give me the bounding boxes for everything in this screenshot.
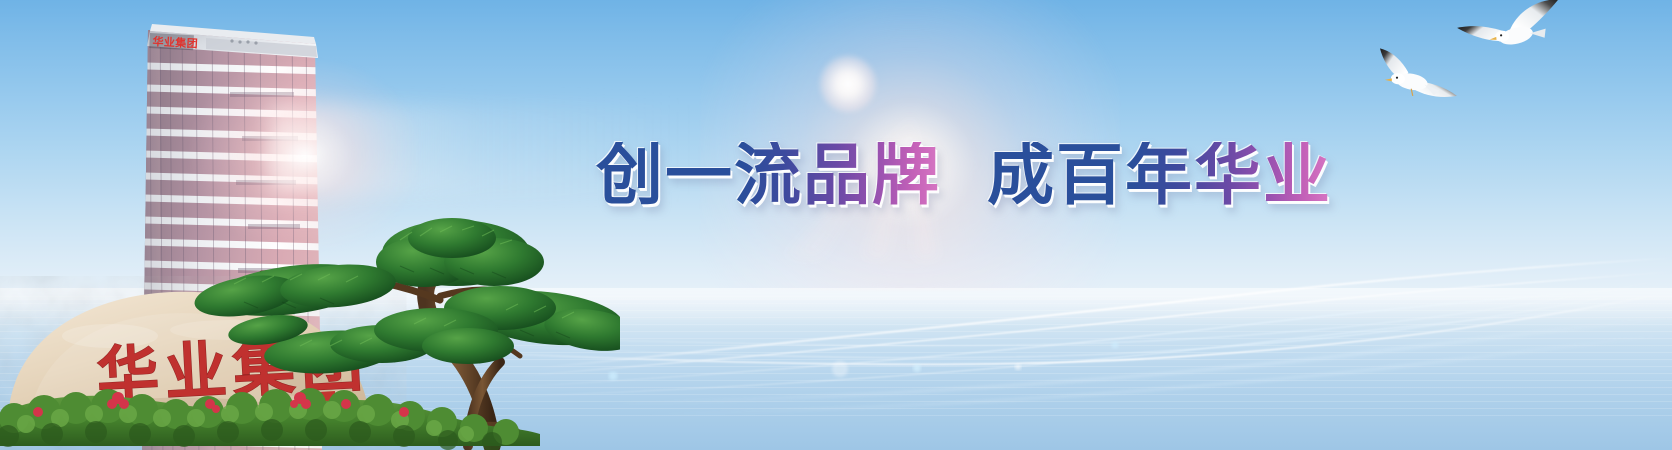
seagull-upper: [1455, 0, 1563, 52]
slogan-part-2: 成百年华业: [987, 142, 1332, 209]
seagulls: [1360, 0, 1580, 140]
slogan: 创一流品牌 成百年华业: [596, 132, 1356, 218]
hero-banner: 华业集团: [0, 0, 1672, 450]
seagull-lower: [1377, 48, 1460, 98]
hedge-row: [0, 388, 540, 450]
slogan-part-1: 创一流品牌: [596, 142, 941, 209]
monument-scene: 华业集团: [0, 0, 620, 450]
